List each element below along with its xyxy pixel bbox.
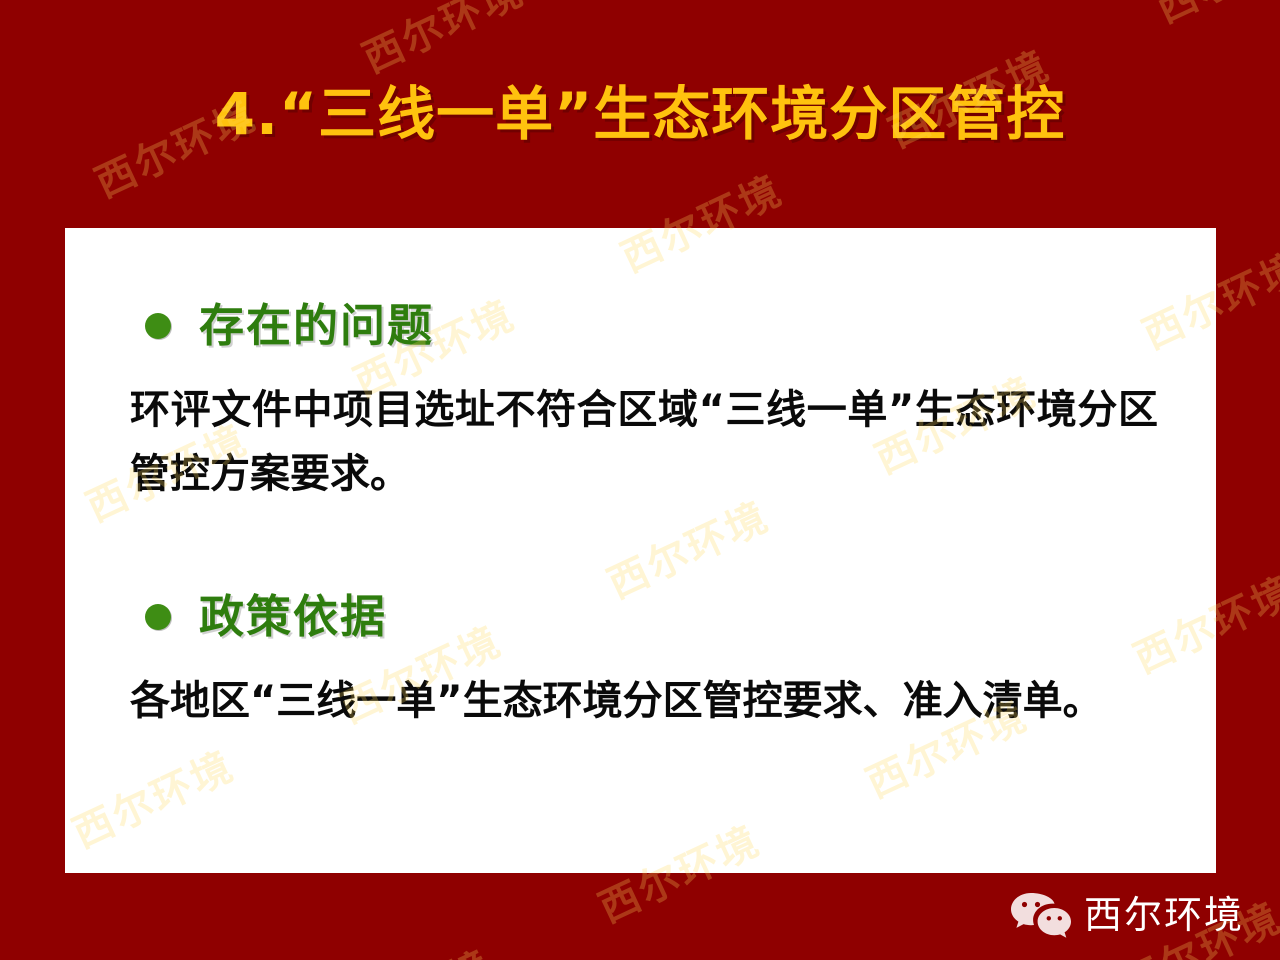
section-body-text: 各地区“三线一单”生态环境分区管控要求、准入清单。 bbox=[65, 669, 1216, 733]
watermark-text: 西尔环境 bbox=[355, 0, 639, 84]
content-panel: 存在的问题 环评文件中项目选址不符合区域“三线一单”生态环境分区管控方案要求。 … bbox=[65, 228, 1216, 873]
watermark-text: 西尔环境 bbox=[1149, 0, 1280, 34]
section-existing-problems: 存在的问题 环评文件中项目选址不符合区域“三线一单”生态环境分区管控方案要求。 bbox=[65, 300, 1216, 506]
section-heading-label: 政策依据 bbox=[199, 591, 387, 643]
section-heading-row: 政策依据 bbox=[65, 591, 1216, 643]
footer-brand[interactable]: 西尔环境 bbox=[1010, 892, 1244, 938]
footer-brand-label: 西尔环境 bbox=[1084, 893, 1244, 937]
bullet-dot-icon bbox=[145, 313, 171, 339]
presentation-slide: 4.“三线一单”生态环境分区管控 存在的问题 环评文件中项目选址不符合区域“三线… bbox=[0, 0, 1280, 960]
page-title: 4.“三线一单”生态环境分区管控 bbox=[0, 80, 1280, 148]
wechat-icon bbox=[1010, 892, 1072, 938]
section-policy-basis: 政策依据 各地区“三线一单”生态环境分区管控要求、准入清单。 bbox=[65, 591, 1216, 733]
section-body-text: 环评文件中项目选址不符合区域“三线一单”生态环境分区管控方案要求。 bbox=[65, 378, 1216, 506]
bullet-dot-icon bbox=[145, 604, 171, 630]
section-heading-row: 存在的问题 bbox=[65, 300, 1216, 352]
section-heading-label: 存在的问题 bbox=[199, 300, 434, 352]
watermark-text: 西尔环境 bbox=[324, 891, 608, 960]
watermark-text: 西尔环境 bbox=[0, 0, 118, 7]
